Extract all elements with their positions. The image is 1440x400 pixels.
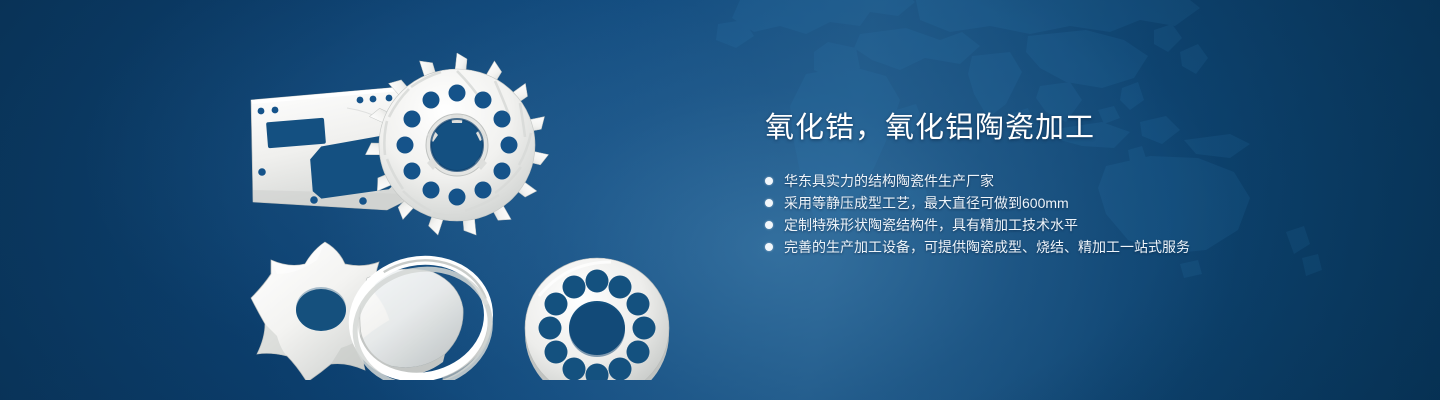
feature-text: 完善的生产加工设备，可提供陶瓷成型、烧结、精加工一站式服务 bbox=[784, 236, 1190, 258]
bullet-dot-icon bbox=[765, 177, 773, 185]
feature-list-item: 完善的生产加工设备，可提供陶瓷成型、烧结、精加工一站式服务 bbox=[765, 236, 1325, 258]
feature-list: 华东具实力的结构陶瓷件生产厂家 采用等静压成型工艺，最大直径可做到600mm 定… bbox=[765, 170, 1325, 258]
hero-banner: 氧化锆，氧化铝陶瓷加工 华东具实力的结构陶瓷件生产厂家 采用等静压成型工艺，最大… bbox=[0, 0, 1440, 400]
feature-list-item: 华东具实力的结构陶瓷件生产厂家 bbox=[765, 170, 1325, 192]
feature-list-item: 采用等静压成型工艺，最大直径可做到600mm bbox=[765, 192, 1325, 214]
product-ceramic-perforated-disc bbox=[525, 258, 669, 380]
product-ceramic-impeller bbox=[364, 53, 549, 237]
feature-list-item: 定制特殊形状陶瓷结构件，具有精加工技术水平 bbox=[765, 214, 1325, 236]
bullet-dot-icon bbox=[765, 221, 773, 229]
feature-text: 定制特殊形状陶瓷结构件，具有精加工技术水平 bbox=[784, 214, 1078, 236]
bullet-dot-icon bbox=[765, 243, 773, 251]
bullet-dot-icon bbox=[765, 199, 773, 207]
feature-text: 采用等静压成型工艺，最大直径可做到600mm bbox=[784, 192, 1069, 214]
banner-text-block: 氧化锆，氧化铝陶瓷加工 华东具实力的结构陶瓷件生产厂家 采用等静压成型工艺，最大… bbox=[765, 108, 1325, 258]
product-collage bbox=[235, 40, 705, 380]
feature-text: 华东具实力的结构陶瓷件生产厂家 bbox=[784, 170, 994, 192]
banner-headline: 氧化锆，氧化铝陶瓷加工 bbox=[765, 108, 1325, 148]
